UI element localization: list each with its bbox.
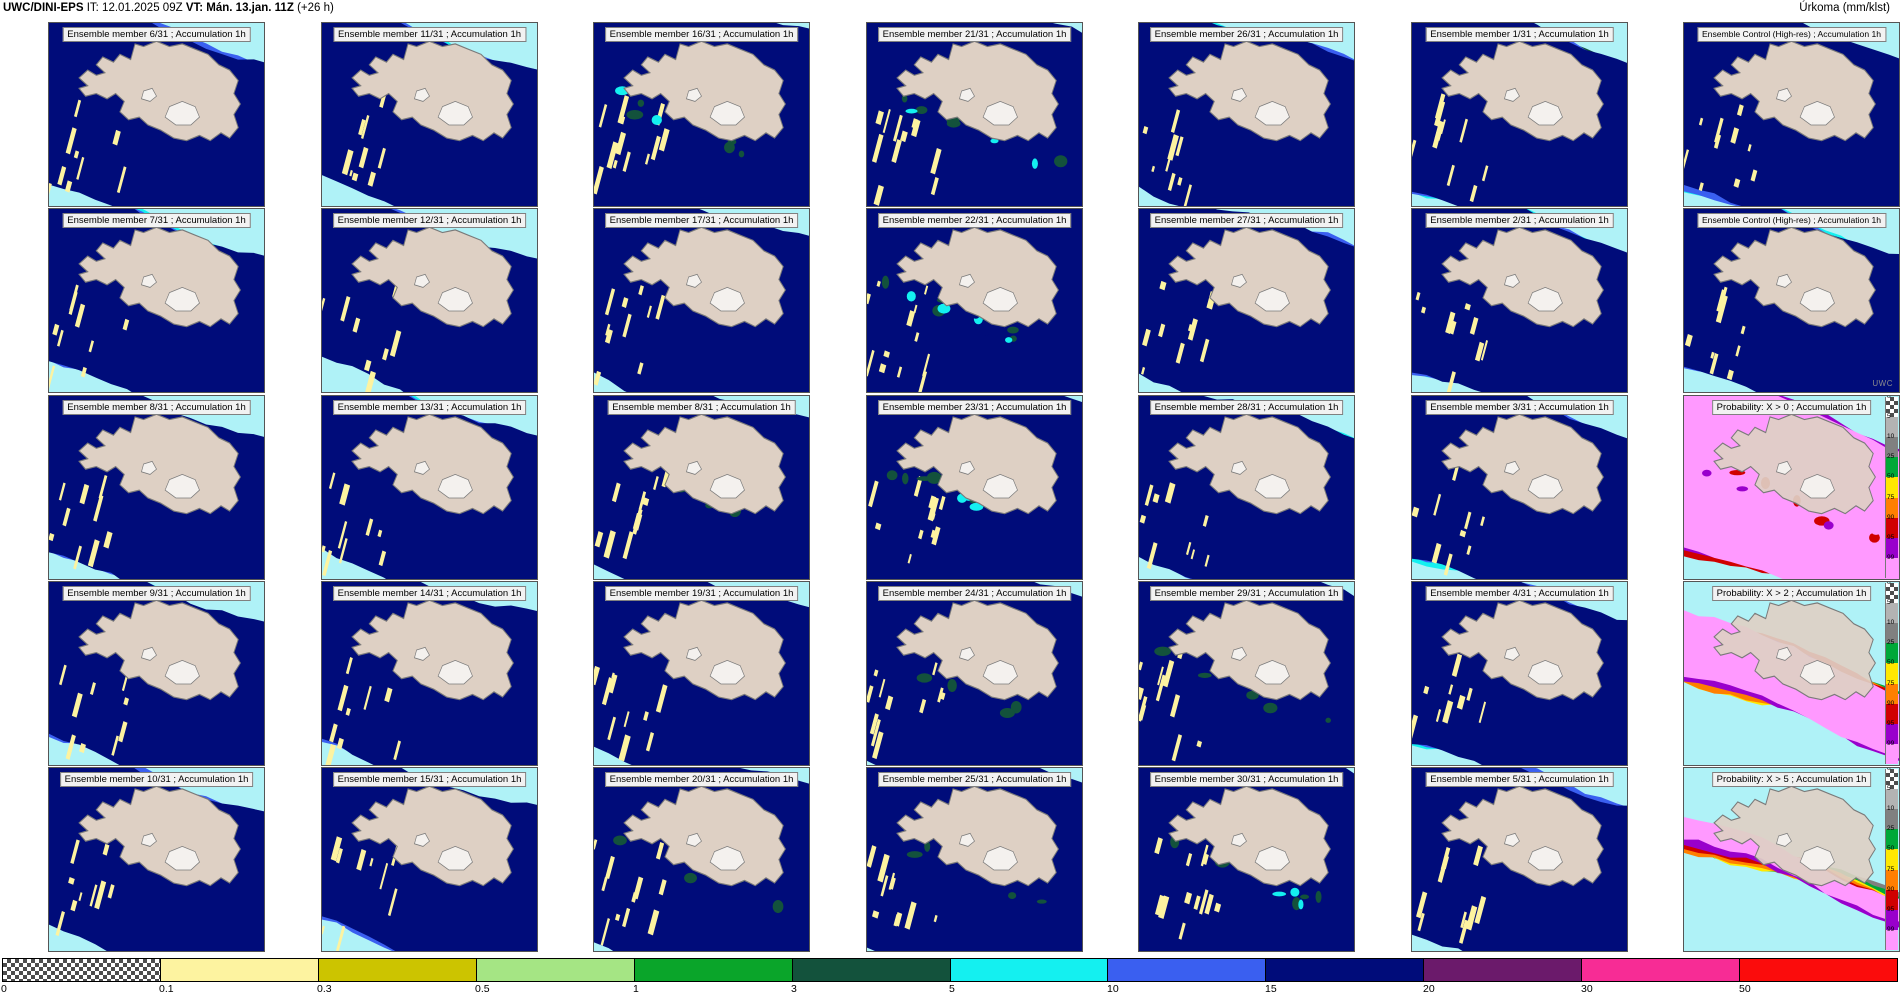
panel-title: Ensemble member 8/31 ; Accumulation 1h xyxy=(62,400,250,415)
colorbar-tick-label: 3 xyxy=(791,983,797,995)
colorbar-tick-label: 0.5 xyxy=(475,983,490,995)
map-panel[interactable]: Ensemble member 7/31 ; Accumulation 1h xyxy=(48,208,265,393)
precipitation-map xyxy=(322,582,537,765)
colorbar-tick-label: 50 xyxy=(1739,983,1751,995)
precipitation-map xyxy=(1412,396,1627,579)
probability-colorbar-tick: 95 xyxy=(1887,906,1894,913)
precipitation-map xyxy=(49,396,264,579)
precipitation-map xyxy=(1412,768,1627,951)
map-panel[interactable]: Ensemble member 12/31 ; Accumulation 1h xyxy=(321,208,538,393)
panel-title: Ensemble member 7/31 ; Accumulation 1h xyxy=(62,213,250,228)
model-name: UWC/DINI-EPS xyxy=(3,2,84,14)
probability-colorbar-tick: 0 xyxy=(1887,581,1891,586)
panel-title: Ensemble member 13/31 ; Accumulation 1h xyxy=(333,400,527,415)
precipitation-map xyxy=(49,582,264,765)
map-panel[interactable]: Ensemble member 19/31 ; Accumulation 1h xyxy=(593,581,810,766)
colorbar-swatch xyxy=(477,959,635,981)
probability-colorbar-tick: 5 xyxy=(1887,413,1891,420)
panel-title: Ensemble member 8/31 ; Accumulation 1h xyxy=(607,400,795,415)
map-panel[interactable]: Ensemble member 25/31 ; Accumulation 1h xyxy=(866,767,1083,952)
colorbar-swatch xyxy=(951,959,1109,981)
precipitation-map xyxy=(49,209,264,392)
precipitation-map xyxy=(867,768,1082,951)
map-panel[interactable]: Ensemble member 14/31 ; Accumulation 1h xyxy=(321,581,538,766)
probability-colorbar-tick: 75 xyxy=(1887,494,1894,501)
map-panel[interactable]: Ensemble member 1/31 ; Accumulation 1h xyxy=(1411,22,1628,207)
colorbar-tick-label: 20 xyxy=(1423,983,1435,995)
colorbar-swatch xyxy=(161,959,319,981)
header-left-text: UWC/DINI-EPS IT: 12.01.2025 09Z VT: Mán.… xyxy=(3,2,334,14)
precipitation-map xyxy=(594,582,809,765)
precipitation-map xyxy=(1139,23,1354,206)
probability-colorbar: 0510255075909599 xyxy=(1885,583,1898,764)
valid-time: Mán. 13.jan. 11Z xyxy=(206,2,294,14)
colorbar-tick-label: 0.3 xyxy=(317,983,332,995)
probability-colorbar-tick: 75 xyxy=(1887,680,1894,687)
precipitation-map xyxy=(594,209,809,392)
precipitation-map xyxy=(1684,582,1899,765)
panel-title: Ensemble member 19/31 ; Accumulation 1h xyxy=(605,586,799,601)
precipitation-map xyxy=(1139,768,1354,951)
map-panel[interactable]: Ensemble member 20/31 ; Accumulation 1h xyxy=(593,767,810,952)
panel-title: Ensemble member 14/31 ; Accumulation 1h xyxy=(333,586,527,601)
panel-title: Ensemble member 15/31 ; Accumulation 1h xyxy=(333,772,527,787)
forecast-page: UWC/DINI-EPS IT: 12.01.2025 09Z VT: Mán.… xyxy=(0,0,1900,1000)
probability-colorbar-tick: 10 xyxy=(1887,619,1894,626)
panel-title: Probability: X > 2 ; Accumulation 1h xyxy=(1712,586,1872,601)
probability-colorbar-tick: 50 xyxy=(1887,659,1894,666)
precipitation-map xyxy=(1139,582,1354,765)
map-panel[interactable]: Ensemble member 9/31 ; Accumulation 1h xyxy=(48,581,265,766)
map-panel[interactable]: Ensemble member 6/31 ; Accumulation 1h xyxy=(48,22,265,207)
init-label: IT: xyxy=(87,2,99,14)
map-panel[interactable]: Ensemble member 11/31 ; Accumulation 1h xyxy=(321,22,538,207)
precipitation-map xyxy=(867,582,1082,765)
map-panel[interactable]: 0510255075909599Probability: X > 0 ; Acc… xyxy=(1683,395,1900,580)
precipitation-map xyxy=(594,23,809,206)
colorbar-tick-label: 15 xyxy=(1265,983,1277,995)
precipitation-map xyxy=(1684,396,1899,579)
map-panel[interactable]: Ensemble member 4/31 ; Accumulation 1h xyxy=(1411,581,1628,766)
probability-colorbar-tick: 25 xyxy=(1887,453,1894,460)
map-panel[interactable]: Ensemble member 30/31 ; Accumulation 1h xyxy=(1138,767,1355,952)
map-panel[interactable]: Ensemble member 16/31 ; Accumulation 1h xyxy=(593,22,810,207)
panel-title: Ensemble member 4/31 ; Accumulation 1h xyxy=(1425,586,1613,601)
colorbar-tick-label: 0.1 xyxy=(159,983,174,995)
probability-colorbar-tick: 90 xyxy=(1887,700,1894,707)
map-panel[interactable]: Ensemble member 21/31 ; Accumulation 1h xyxy=(866,22,1083,207)
map-panel[interactable]: Ensemble member 15/31 ; Accumulation 1h xyxy=(321,767,538,952)
map-panel[interactable]: Ensemble member 27/31 ; Accumulation 1h xyxy=(1138,208,1355,393)
panel-title: Ensemble member 27/31 ; Accumulation 1h xyxy=(1150,213,1344,228)
map-panel[interactable]: Ensemble Control (High-res) ; Accumulati… xyxy=(1683,208,1900,393)
probability-colorbar-segment: 99 xyxy=(1886,744,1898,764)
precipitation-map xyxy=(49,768,264,951)
colorbar-swatch xyxy=(1740,959,1897,981)
panel-title: Ensemble member 25/31 ; Accumulation 1h xyxy=(878,772,1072,787)
map-panel[interactable]: Ensemble member 8/31 ; Accumulation 1h xyxy=(593,395,810,580)
precipitation-map xyxy=(322,23,537,206)
colorbar-swatch xyxy=(3,959,161,981)
panel-title: Probability: X > 5 ; Accumulation 1h xyxy=(1712,772,1872,787)
colorbar-swatch xyxy=(1108,959,1266,981)
probability-colorbar-tick: 95 xyxy=(1887,534,1894,541)
precipitation-map xyxy=(1412,23,1627,206)
panel-title: Probability: X > 0 ; Accumulation 1h xyxy=(1712,400,1872,415)
map-panel[interactable]: 0510255075909599Probability: X > 2 ; Acc… xyxy=(1683,581,1900,766)
precipitation-map xyxy=(867,209,1082,392)
probability-colorbar-tick: 5 xyxy=(1887,785,1891,792)
precipitation-map xyxy=(594,768,809,951)
panel-title: Ensemble Control (High-res) ; Accumulati… xyxy=(1697,27,1886,42)
panel-title: Ensemble member 16/31 ; Accumulation 1h xyxy=(605,27,799,42)
map-panel[interactable]: Ensemble member 24/31 ; Accumulation 1h xyxy=(866,581,1083,766)
panel-title: Ensemble member 2/31 ; Accumulation 1h xyxy=(1425,213,1613,228)
precipitation-map xyxy=(322,768,537,951)
map-panel[interactable]: Ensemble member 22/31 ; Accumulation 1h xyxy=(866,208,1083,393)
map-panel[interactable]: Ensemble member 13/31 ; Accumulation 1h xyxy=(321,395,538,580)
panel-title: Ensemble member 3/31 ; Accumulation 1h xyxy=(1425,400,1613,415)
colorbar-tick-label: 10 xyxy=(1107,983,1119,995)
panel-title: Ensemble member 21/31 ; Accumulation 1h xyxy=(878,27,1072,42)
probability-colorbar-tick: 5 xyxy=(1887,599,1891,606)
watermark: UWC xyxy=(1872,379,1893,388)
precipitation-map xyxy=(49,23,264,206)
probability-colorbar-tick: 90 xyxy=(1887,886,1894,893)
ensemble-panel-grid: Ensemble member 6/31 ; Accumulation 1hEn… xyxy=(48,22,1900,952)
probability-colorbar-tick: 25 xyxy=(1887,825,1894,832)
map-panel[interactable]: Ensemble member 17/31 ; Accumulation 1h xyxy=(593,208,810,393)
precipitation-map xyxy=(1139,396,1354,579)
map-panel[interactable]: Ensemble member 23/31 ; Accumulation 1h xyxy=(866,395,1083,580)
precipitation-map xyxy=(1412,209,1627,392)
panel-title: Ensemble member 29/31 ; Accumulation 1h xyxy=(1150,586,1344,601)
colorbar-ticks: 00.10.30.51351015203050 xyxy=(2,983,1898,997)
probability-colorbar-tick: 0 xyxy=(1887,395,1891,400)
colorbar-tick-label: 1 xyxy=(633,983,639,995)
probability-colorbar-tick: 50 xyxy=(1887,473,1894,480)
precipitation-map xyxy=(1684,768,1899,951)
probability-colorbar-tick: 99 xyxy=(1887,740,1894,747)
panel-title: Ensemble member 28/31 ; Accumulation 1h xyxy=(1150,400,1344,415)
colorbar-tick-label: 30 xyxy=(1581,983,1593,995)
map-panel[interactable]: Ensemble member 8/31 ; Accumulation 1h xyxy=(48,395,265,580)
probability-colorbar-tick: 95 xyxy=(1887,720,1894,727)
probability-colorbar-tick: 75 xyxy=(1887,866,1894,873)
panel-title: Ensemble member 12/31 ; Accumulation 1h xyxy=(333,213,527,228)
map-panel[interactable]: Ensemble member 29/31 ; Accumulation 1h xyxy=(1138,581,1355,766)
colorbar-swatches xyxy=(2,958,1898,982)
panel-title: Ensemble member 22/31 ; Accumulation 1h xyxy=(878,213,1072,228)
colorbar-swatch xyxy=(635,959,793,981)
colorbar-swatch xyxy=(1266,959,1424,981)
map-panel[interactable]: Ensemble member 5/31 ; Accumulation 1h xyxy=(1411,767,1628,952)
map-panel[interactable]: Ensemble member 3/31 ; Accumulation 1h xyxy=(1411,395,1628,580)
probability-colorbar-segment: 99 xyxy=(1886,930,1898,950)
map-panel[interactable]: 0510255075909599Probability: X > 5 ; Acc… xyxy=(1683,767,1900,952)
parameter-label: Úrkoma (mm/klst) xyxy=(1799,2,1890,14)
precipitation-map xyxy=(1139,209,1354,392)
panel-title: Ensemble member 9/31 ; Accumulation 1h xyxy=(62,586,250,601)
probability-colorbar-tick: 50 xyxy=(1887,845,1894,852)
probability-colorbar-segment: 99 xyxy=(1886,558,1898,578)
map-panel[interactable]: Ensemble member 10/31 ; Accumulation 1h xyxy=(48,767,265,952)
colorbar-swatch xyxy=(1582,959,1740,981)
panel-title: Ensemble member 17/31 ; Accumulation 1h xyxy=(605,213,799,228)
precipitation-map xyxy=(322,209,537,392)
colorbar-tick-label: 5 xyxy=(949,983,955,995)
valid-label: VT: xyxy=(186,2,203,14)
probability-colorbar-tick: 25 xyxy=(1887,639,1894,646)
panel-title: Ensemble member 5/31 ; Accumulation 1h xyxy=(1425,772,1613,787)
panel-title: Ensemble member 23/31 ; Accumulation 1h xyxy=(878,400,1072,415)
colorbar-tick-label: 0 xyxy=(1,983,7,995)
probability-colorbar: 0510255075909599 xyxy=(1885,397,1898,578)
precipitation-map xyxy=(867,23,1082,206)
page-header: UWC/DINI-EPS IT: 12.01.2025 09Z VT: Mán.… xyxy=(0,0,1900,18)
precipitation-map xyxy=(1412,582,1627,765)
panel-title: Ensemble Control (High-res) ; Accumulati… xyxy=(1697,213,1886,228)
probability-colorbar-tick: 99 xyxy=(1887,926,1894,933)
precipitation-map xyxy=(1684,23,1899,206)
panel-title: Ensemble member 10/31 ; Accumulation 1h xyxy=(60,772,254,787)
colorbar-swatch xyxy=(1424,959,1582,981)
lead-time: (+26 h) xyxy=(297,2,334,14)
panel-title: Ensemble member 6/31 ; Accumulation 1h xyxy=(62,27,250,42)
panel-title: Ensemble member 20/31 ; Accumulation 1h xyxy=(605,772,799,787)
panel-title: Ensemble member 1/31 ; Accumulation 1h xyxy=(1425,27,1613,42)
panel-title: Ensemble member 26/31 ; Accumulation 1h xyxy=(1150,27,1344,42)
precipitation-map xyxy=(594,396,809,579)
panel-title: Ensemble member 30/31 ; Accumulation 1h xyxy=(1150,772,1344,787)
precipitation-map xyxy=(322,396,537,579)
map-panel[interactable]: Ensemble member 26/31 ; Accumulation 1h xyxy=(1138,22,1355,207)
init-time: 12.01.2025 09Z xyxy=(102,2,183,14)
probability-colorbar-tick: 10 xyxy=(1887,433,1894,440)
map-panel[interactable]: Ensemble member 2/31 ; Accumulation 1h xyxy=(1411,208,1628,393)
map-panel[interactable]: Ensemble member 28/31 ; Accumulation 1h xyxy=(1138,395,1355,580)
panel-title: Ensemble member 11/31 ; Accumulation 1h xyxy=(333,27,526,42)
probability-colorbar-tick: 90 xyxy=(1887,514,1894,521)
probability-colorbar-tick: 0 xyxy=(1887,767,1891,772)
probability-colorbar: 0510255075909599 xyxy=(1885,769,1898,950)
probability-colorbar-tick: 99 xyxy=(1887,554,1894,561)
colorbar-swatch xyxy=(793,959,951,981)
precipitation-map xyxy=(867,396,1082,579)
map-panel[interactable]: Ensemble Control (High-res) ; Accumulati… xyxy=(1683,22,1900,207)
probability-colorbar-tick: 10 xyxy=(1887,805,1894,812)
panel-title: Ensemble member 24/31 ; Accumulation 1h xyxy=(878,586,1072,601)
colorbar-legend: 00.10.30.51351015203050 xyxy=(0,956,1900,1000)
colorbar-swatch xyxy=(319,959,477,981)
precipitation-map xyxy=(1684,209,1899,392)
